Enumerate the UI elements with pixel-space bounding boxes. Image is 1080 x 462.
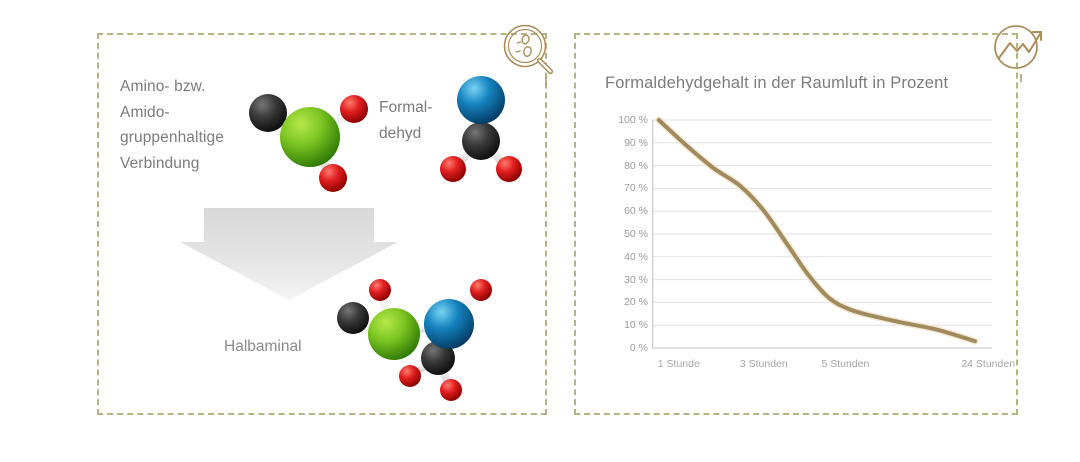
amino-group-molecule — [238, 82, 384, 198]
series-line-formaldehyd — [659, 120, 975, 341]
y-tick-label: 50 % — [604, 228, 648, 240]
gridlines — [652, 120, 992, 348]
series-glow — [659, 120, 975, 341]
y-tick-label: 80 % — [604, 160, 648, 172]
chart-area: 100 %90 %80 %70 %60 %50 %40 %30 %20 %10 … — [596, 120, 1008, 382]
y-tick-label: 10 % — [604, 319, 648, 331]
chart-title: Formaldehydgehalt in der Raumluft in Pro… — [605, 74, 948, 93]
y-tick-label: 0 % — [604, 342, 648, 354]
y-tick-label: 70 % — [604, 182, 648, 194]
formaldehyde-molecule — [432, 68, 530, 192]
product-label: Halbaminal — [224, 338, 302, 356]
y-tick-label: 40 % — [604, 251, 648, 263]
x-tick-label: 24 Stunden — [961, 358, 1015, 370]
chart-plot — [652, 120, 992, 348]
y-tick-label: 90 % — [604, 137, 648, 149]
y-tick-label: 100 % — [604, 114, 648, 126]
halbaminal-molecule — [322, 262, 508, 408]
y-tick-label: 30 % — [604, 274, 648, 286]
x-tick-label: 5 Stunden — [821, 358, 869, 370]
x-tick-label: 3 Stunden — [740, 358, 788, 370]
y-tick-label: 60 % — [604, 205, 648, 217]
trend-chart-icon — [988, 18, 1054, 84]
y-tick-label: 20 % — [604, 296, 648, 308]
x-axis: 1 Stunde3 Stunden5 Stunden24 Stunden — [596, 358, 1008, 378]
x-tick-label: 1 Stunde — [658, 358, 700, 370]
y-axis: 100 %90 %80 %70 %60 %50 %40 %30 %20 %10 … — [596, 120, 648, 348]
